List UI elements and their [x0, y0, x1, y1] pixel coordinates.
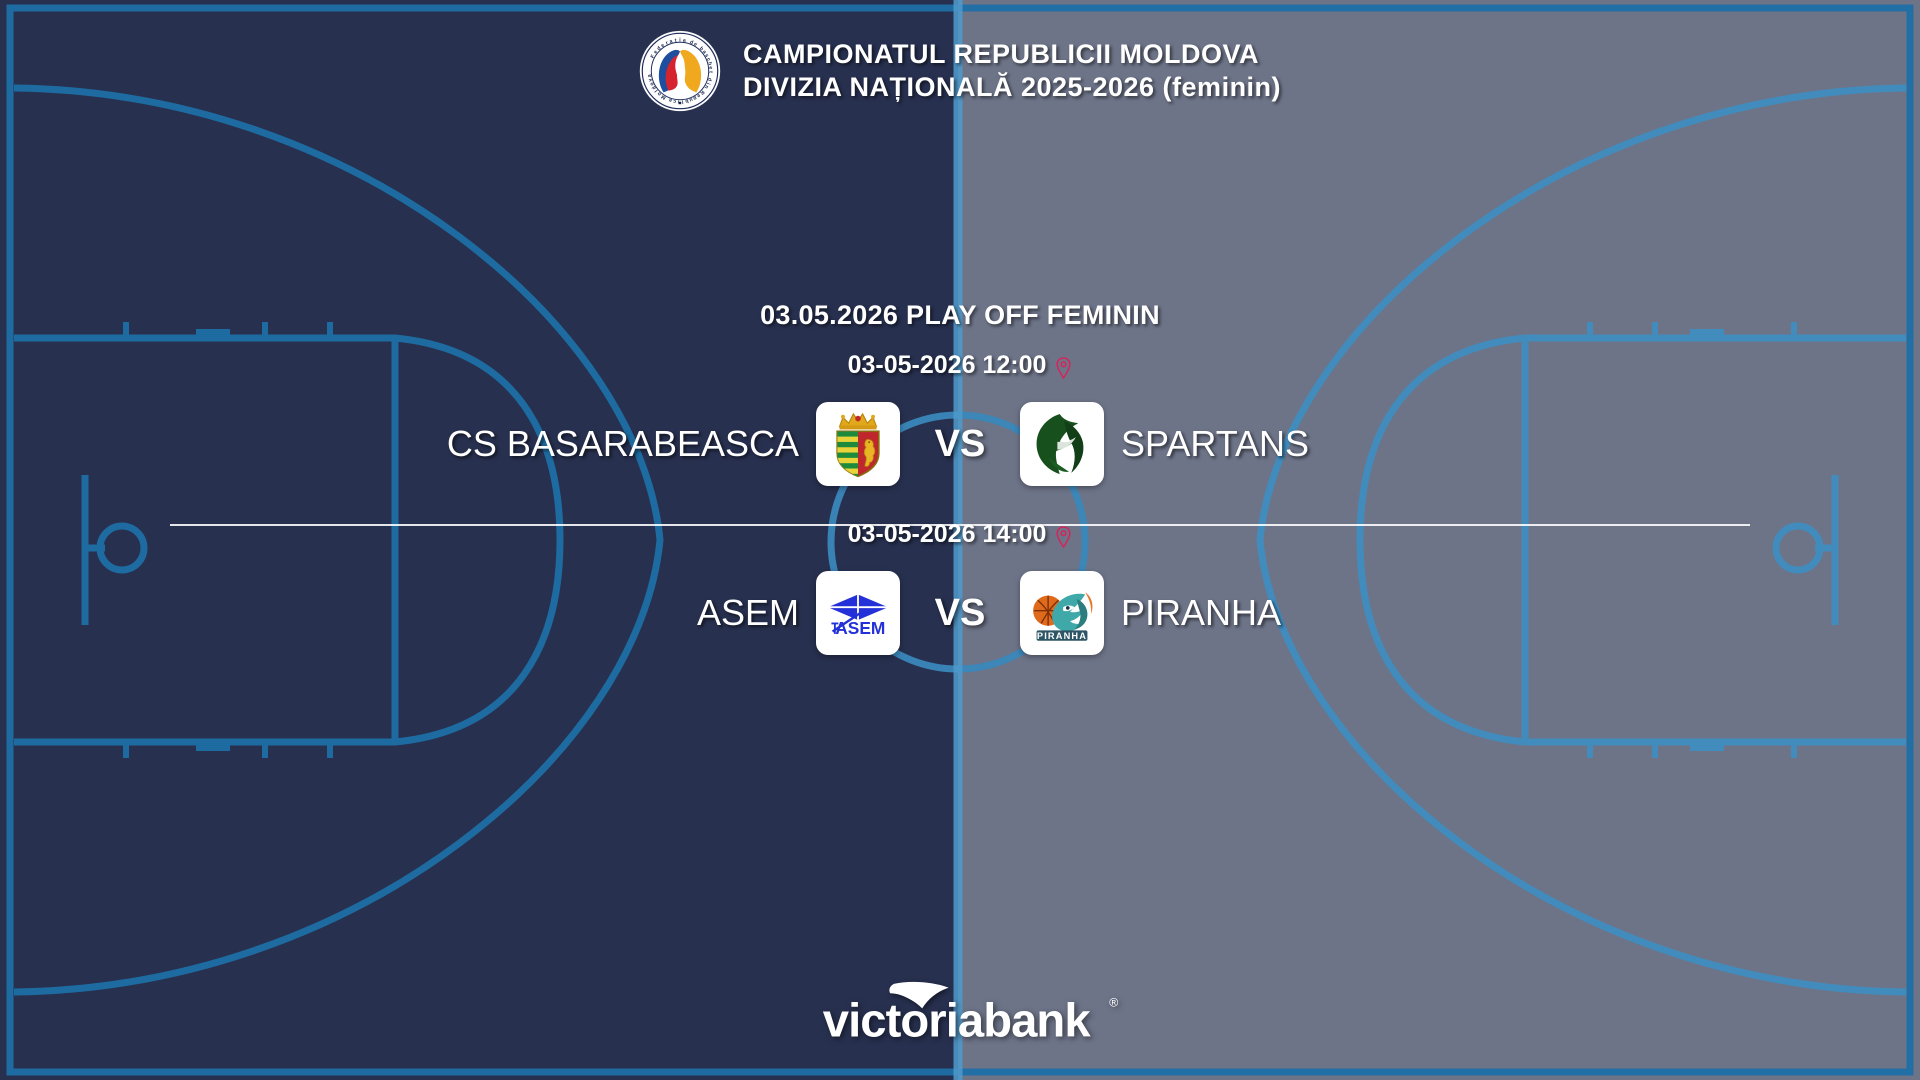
location-pin-icon[interactable]	[1055, 357, 1072, 379]
home-team-name: CS BASARABEASCA	[447, 423, 799, 465]
home-team[interactable]: ASEM ASEM	[240, 571, 900, 655]
round-label: 03.05.2026 PLAY OFF FEMININ	[0, 300, 1920, 331]
match-datetime: 03-05-2026 14:00	[848, 520, 1047, 549]
away-team-name: PIRANHA	[1121, 592, 1281, 634]
federation-crest-icon: F e d e r a t i a d e b a s c h e t d i	[639, 30, 721, 112]
piranha-logo-icon: PIRANHA	[1020, 571, 1104, 655]
matches-list: 03.05.2026 PLAY OFF FEMININ 03-05-2026 1…	[0, 300, 1920, 667]
championship-subtitle: DIVIZIA NAȚIONALĂ 2025-2026 (feminin)	[743, 71, 1281, 104]
match-row[interactable]: 03-05-2026 14:00 ASEM	[0, 520, 1920, 667]
home-team-name: ASEM	[697, 592, 799, 634]
match-row[interactable]: 03-05-2026 12:00 CS BASARABEASCA	[0, 351, 1920, 498]
sponsor-trademark: ®	[1109, 996, 1118, 1010]
asem-logo-icon: ASEM	[816, 571, 900, 655]
header: F e d e r a t i a d e b a s c h e t d i	[0, 30, 1920, 112]
match-time: 03-05-2026 12:00	[0, 351, 1920, 380]
home-team[interactable]: CS BASARABEASCA	[240, 402, 900, 486]
versus-separator: VS	[900, 423, 1020, 466]
away-team-name: SPARTANS	[1121, 423, 1309, 465]
svg-text:PIRANHA: PIRANHA	[1037, 631, 1087, 641]
sponsor-wordmark: victoriabank	[823, 995, 1092, 1048]
away-team[interactable]: SPARTANS	[1020, 402, 1680, 486]
match-schedule-graphic: F e d e r a t i a d e b a s c h e t d i	[0, 0, 1920, 1080]
basarabeasca-crest-icon	[816, 402, 900, 486]
championship-title: CAMPIONATUL REPUBLICII MOLDOVA	[743, 38, 1281, 71]
sponsor-logo: victoriabank ®	[0, 978, 1920, 1052]
match-time: 03-05-2026 14:00	[0, 520, 1920, 549]
match-datetime: 03-05-2026 12:00	[848, 351, 1047, 380]
location-pin-icon[interactable]	[1055, 526, 1072, 548]
title-block: CAMPIONATUL REPUBLICII MOLDOVA DIVIZIA N…	[743, 38, 1281, 104]
away-team[interactable]: PIRANHA PIRANHA	[1020, 571, 1680, 655]
svg-text:ASEM: ASEM	[835, 618, 885, 638]
versus-separator: VS	[900, 592, 1020, 635]
spartans-helmet-icon	[1020, 402, 1104, 486]
victoriabank-logo-icon: victoriabank ®	[790, 978, 1130, 1052]
